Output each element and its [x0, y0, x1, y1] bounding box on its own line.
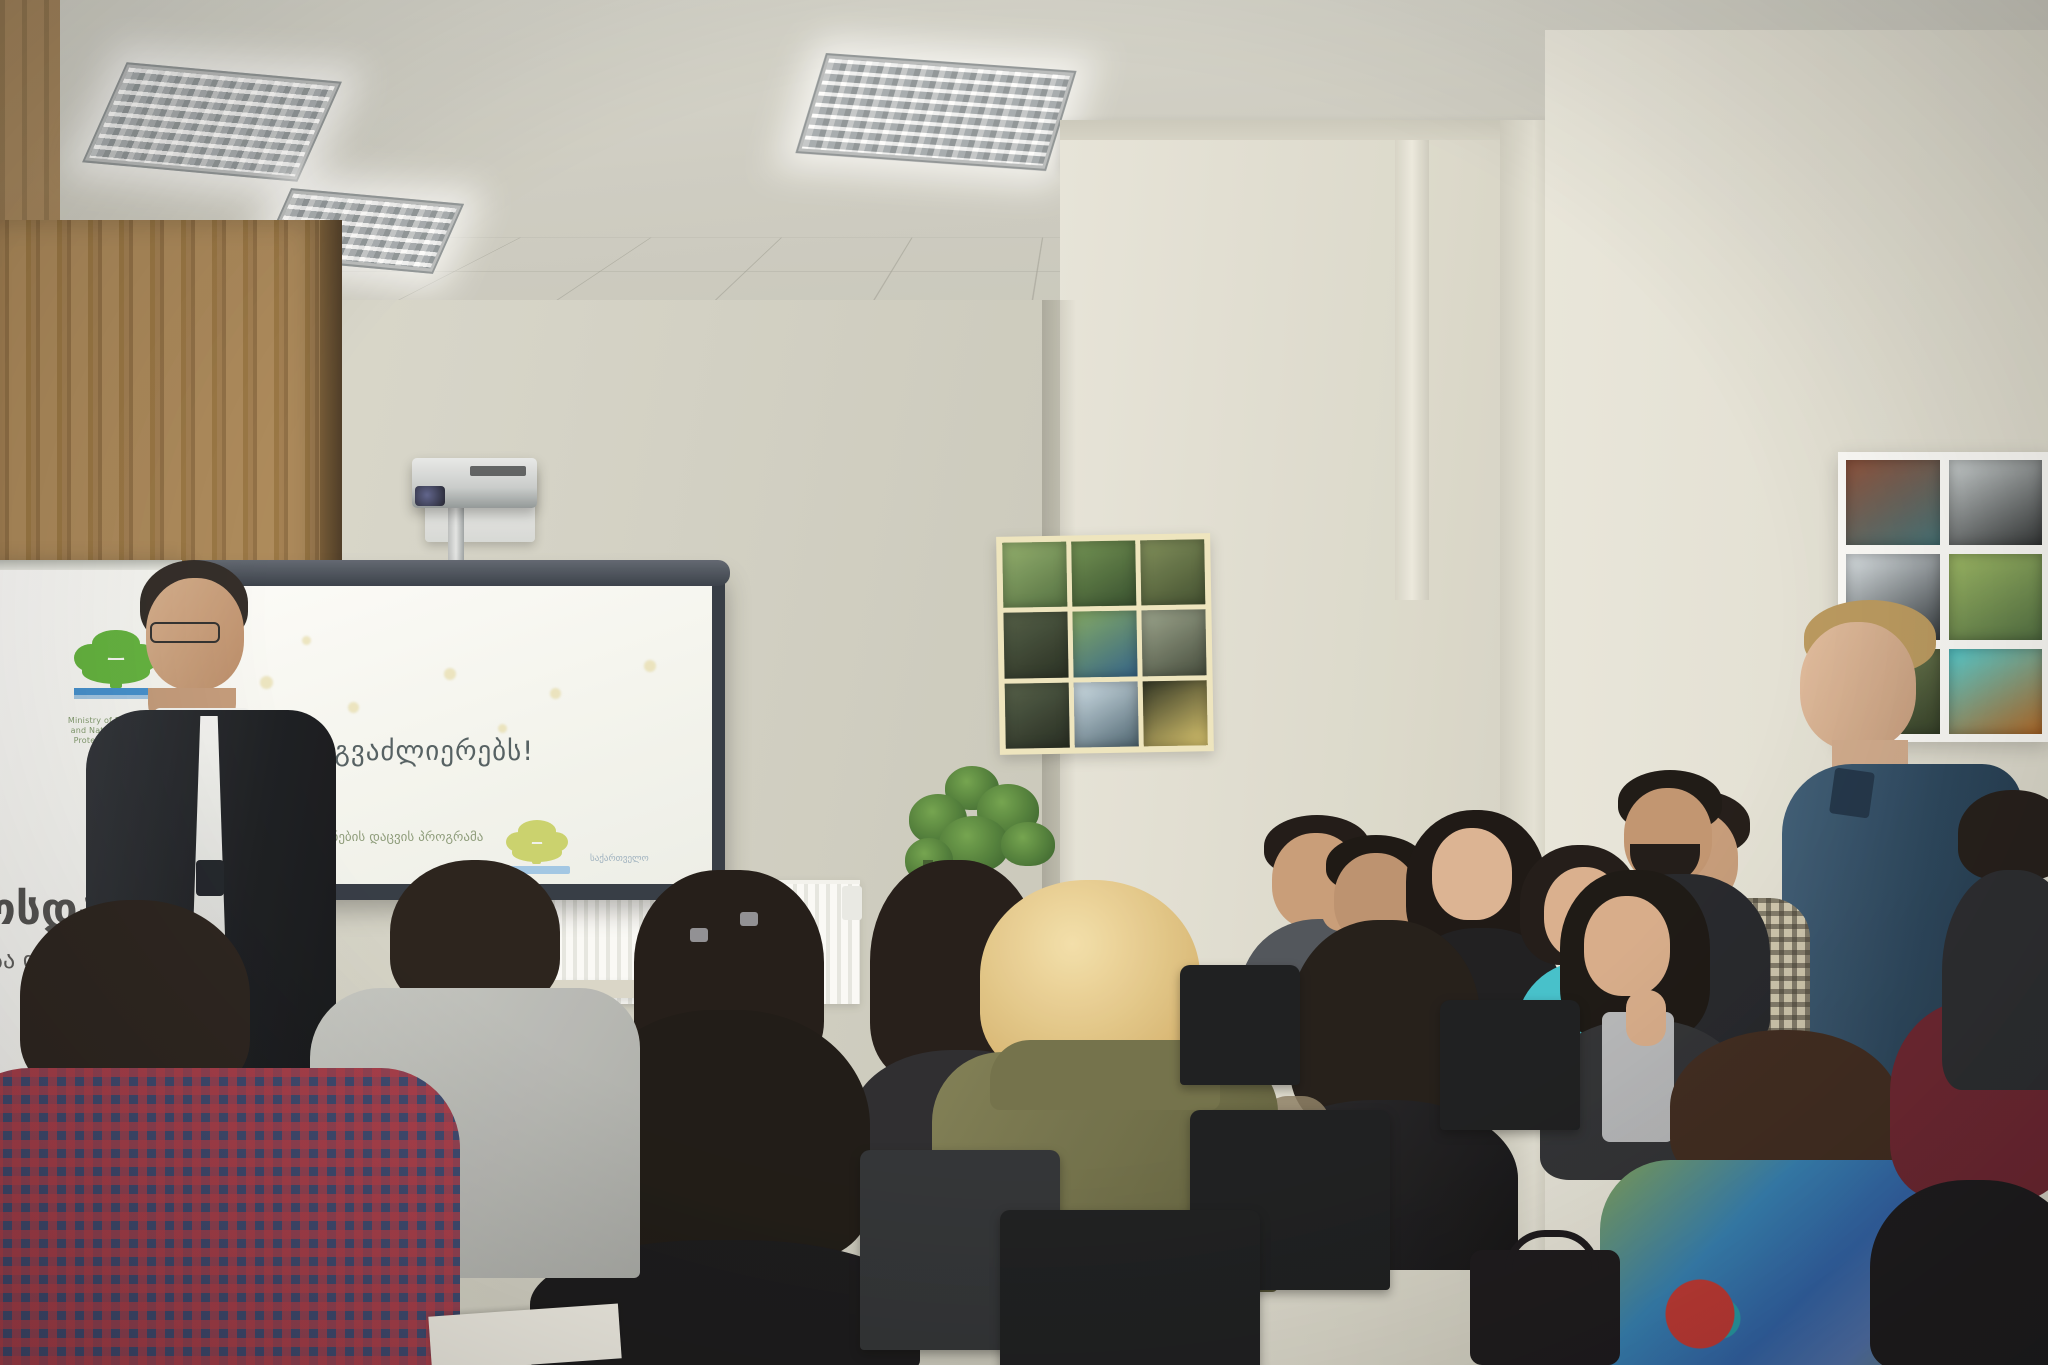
radiator-valve [842, 886, 862, 920]
photo-aerial-green-hills [1002, 542, 1067, 608]
photo-aerial-rocky-ridge [1140, 539, 1205, 605]
gingham-shirt [0, 1068, 460, 1365]
ceiling-light-center [795, 53, 1076, 171]
eyeglasses-icon [150, 622, 220, 643]
wall-beam [1395, 140, 1429, 600]
photo-aerial-snowfield [1141, 610, 1206, 676]
attendee-plaid-foreground-left [0, 900, 440, 1365]
conference-room-photo: ხვები გვაძლიერებს! ბუნების დაცვის პროგრა… [0, 0, 2048, 1365]
photo-aerial-dark-forest [1003, 612, 1068, 678]
photo-waterfall-mist [1074, 681, 1139, 747]
hair-clip-2 [740, 912, 758, 926]
standing-man-collar [1829, 767, 1875, 818]
attendee-dark-right-edge [1950, 790, 2048, 1090]
standing-man-head [1800, 622, 1916, 750]
projector-lens-icon [415, 486, 445, 506]
photo-red-rock-lagoon [1846, 460, 1940, 545]
photo-night-lights [1143, 680, 1208, 746]
photo-aerial-crater-lake [1071, 540, 1136, 606]
photo-aerial-river-meander [1072, 611, 1137, 677]
projector-brand-label [470, 466, 526, 476]
presenter-belt [196, 860, 224, 896]
chair-row [1000, 1210, 1260, 1365]
photo-braided-river-delta [1949, 460, 2043, 545]
hair-clip [690, 928, 708, 942]
ceiling-light-left-front [82, 62, 342, 182]
photo-aerial-canyon [1005, 682, 1070, 748]
chair-row [1180, 965, 1300, 1085]
chair-row [1440, 1000, 1580, 1130]
photo-collage-3x3 [996, 533, 1214, 755]
wood-panel-upper [0, 0, 60, 250]
